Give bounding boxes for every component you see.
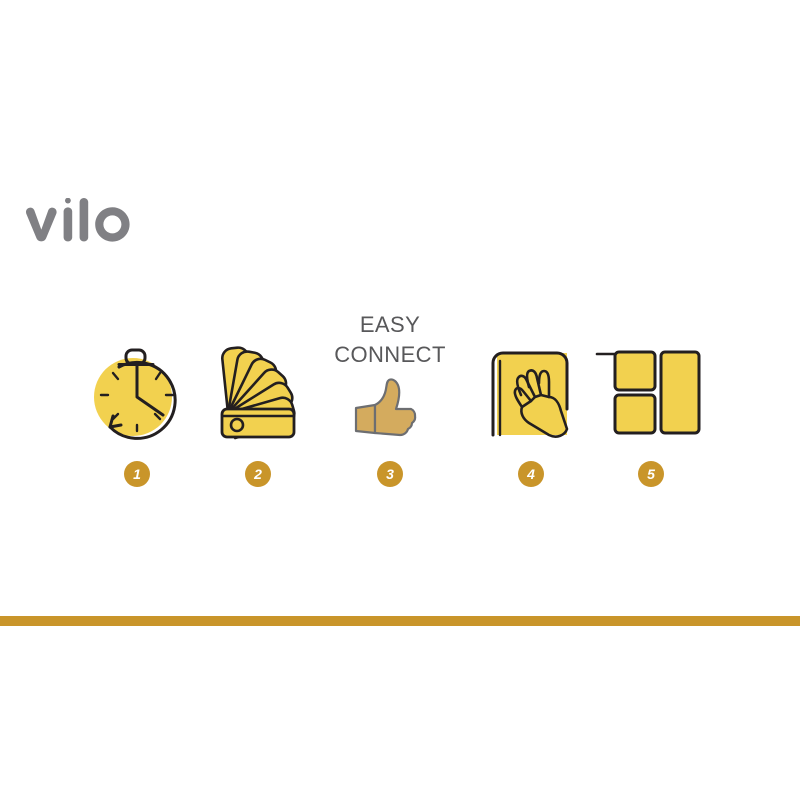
step-badge-4[interactable]: 4	[518, 461, 544, 487]
feature-item-5[interactable]	[591, 300, 711, 450]
feature-item-4[interactable]	[471, 300, 591, 450]
hand-wipe-panel-icon	[471, 339, 591, 444]
feature-item-3[interactable]: EASY CONNECT	[330, 300, 450, 450]
step-badge-5[interactable]: 5	[638, 461, 664, 487]
slide-canvas: EASY CONNECT	[0, 0, 800, 800]
vilo-logo	[20, 198, 150, 250]
feature-icon-row: EASY CONNECT	[0, 300, 800, 450]
color-fan-deck-icon	[198, 339, 318, 444]
feature-item-1[interactable]	[77, 300, 197, 450]
step-number-row: 1 2 3 4 5	[0, 461, 800, 491]
thumbs-up-icon	[330, 341, 450, 446]
gold-divider-bar	[0, 616, 800, 626]
step-badge-3[interactable]: 3	[377, 461, 403, 487]
panel-layout-icon	[591, 339, 711, 444]
stopwatch-icon	[77, 339, 197, 444]
step-badge-1[interactable]: 1	[124, 461, 150, 487]
feature-item-2[interactable]	[198, 300, 318, 450]
step-badge-2[interactable]: 2	[245, 461, 271, 487]
